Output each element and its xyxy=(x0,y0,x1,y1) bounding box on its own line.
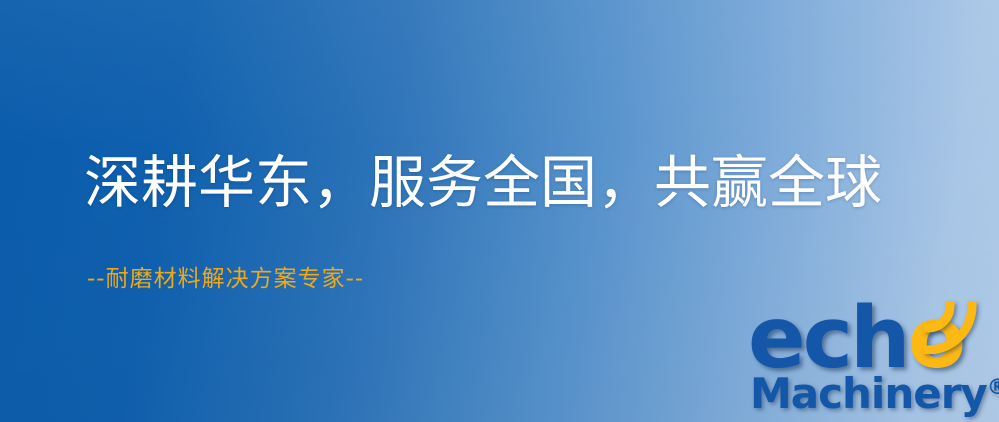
banner-subtitle: --耐磨材料解决方案专家-- xyxy=(87,268,364,291)
echo-waves-icon xyxy=(920,298,978,354)
banner-headline: 深耕华东，服务全国，共赢全球 xyxy=(84,155,882,212)
registered-trademark-icon: ® xyxy=(987,375,999,399)
logo-subtext: Machinery® xyxy=(750,373,999,415)
echo-machinery-logo[interactable]: echo Machinery® xyxy=(748,296,999,422)
hero-banner: 深耕华东，服务全国，共赢全球 --耐磨材料解决方案专家-- echo Machi… xyxy=(0,0,999,422)
logo-subtext-label: Machinery xyxy=(750,369,987,418)
